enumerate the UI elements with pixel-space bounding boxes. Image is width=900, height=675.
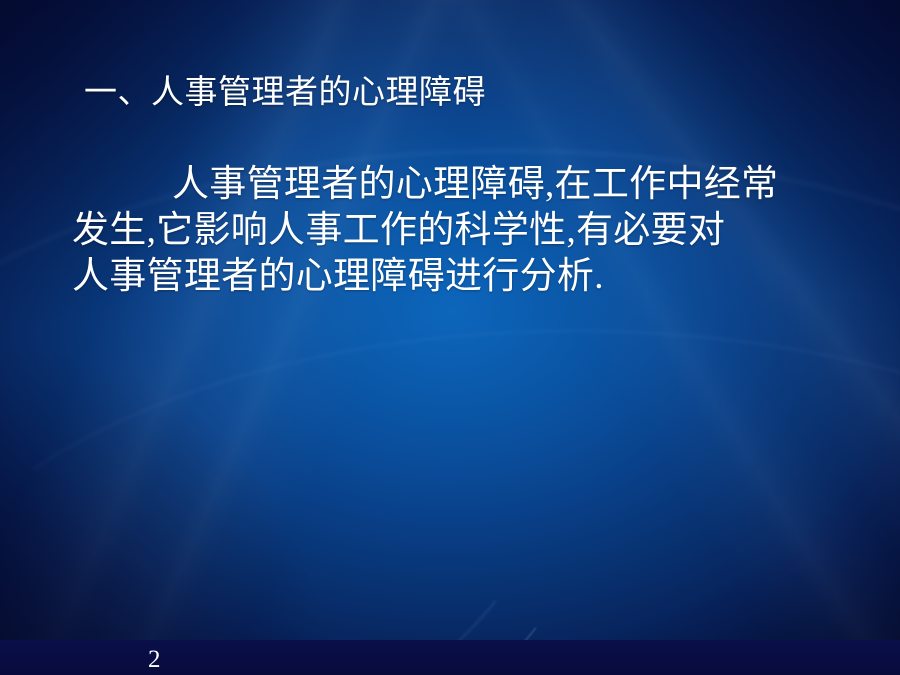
body-line-2: 发生,它影响人事工作的科学性,有必要对 (72, 208, 872, 254)
slide-content: 一、人事管理者的心理障碍 人事管理者的心理障碍,在工作中经常 发生,它影响人事工… (0, 0, 900, 675)
body-line-1: 人事管理者的心理障碍,在工作中经常 (72, 162, 872, 208)
slide-body-text: 人事管理者的心理障碍,在工作中经常 发生,它影响人事工作的科学性,有必要对 人事… (72, 162, 872, 300)
presentation-slide: 一、人事管理者的心理障碍 人事管理者的心理障碍,在工作中经常 发生,它影响人事工… (0, 0, 900, 675)
slide-footer-band (0, 640, 900, 675)
slide-title: 一、人事管理者的心理障碍 (84, 72, 486, 114)
body-line-3: 人事管理者的心理障碍进行分析. (72, 254, 872, 300)
page-number: 2 (148, 646, 161, 674)
